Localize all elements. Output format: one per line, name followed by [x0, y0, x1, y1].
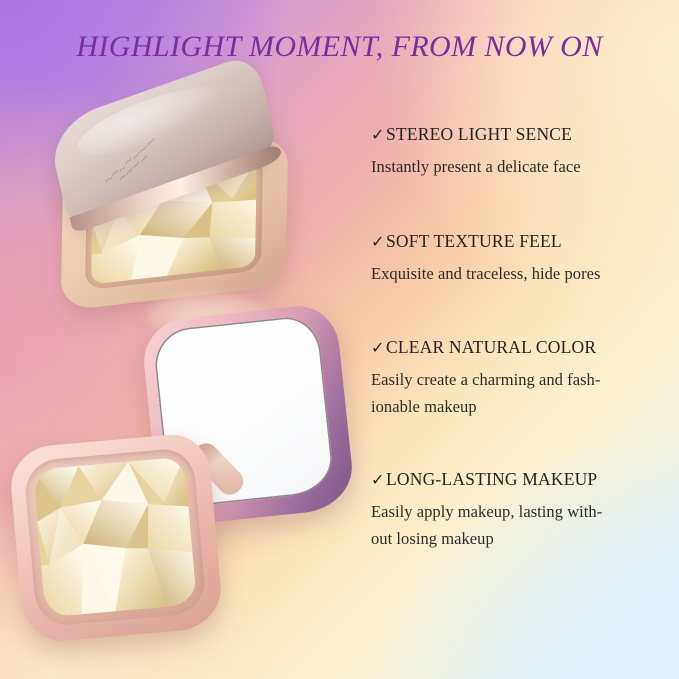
feature-item: ✓ SOFT TEXTURE FEEL Exquisite and tracel…: [371, 231, 671, 288]
feature-heading: ✓ SOFT TEXTURE FEEL: [371, 231, 671, 252]
feature-description: Easily apply makeup, lasting with- out l…: [371, 499, 671, 552]
feature-description: Instantly present a delicate face: [371, 154, 671, 181]
feature-description-line: Easily apply makeup, lasting with-: [371, 499, 671, 526]
feature-description-line: ionable makeup: [371, 394, 671, 421]
feature-heading: ✓ LONG-LASTING MAKEUP: [371, 469, 671, 490]
feature-heading-text: CLEAR NATURAL COLOR: [386, 337, 596, 358]
check-icon: ✓: [371, 341, 386, 357]
feature-heading-text: SOFT TEXTURE FEEL: [386, 231, 562, 252]
feature-description-line: Easily create a charming and fash-: [371, 367, 671, 394]
feature-spacer: [371, 207, 671, 231]
feature-heading-text: STEREO LIGHT SENCE: [386, 124, 572, 145]
feature-spacer: [371, 313, 671, 337]
feature-item: ✓ STEREO LIGHT SENCE Instantly present a…: [371, 124, 671, 181]
feature-heading-text: LONG-LASTING MAKEUP: [386, 469, 597, 490]
feature-description: Exquisite and traceless, hide pores: [371, 261, 671, 288]
check-icon: ✓: [371, 473, 386, 489]
feature-heading: ✓ STEREO LIGHT SENCE: [371, 124, 671, 145]
feature-description-line: Instantly present a delicate face: [371, 154, 671, 181]
check-icon: ✓: [371, 128, 386, 144]
feature-description-line: Exquisite and traceless, hide pores: [371, 261, 671, 288]
page-title: HIGHLIGHT MOMENT, FROM NOW ON: [0, 30, 679, 64]
feature-heading: ✓ CLEAR NATURAL COLOR: [371, 337, 671, 358]
feature-item: ✓ LONG-LASTING MAKEUP Easily apply makeu…: [371, 469, 671, 552]
feature-description-line: out losing makeup: [371, 526, 671, 553]
feature-spacer: [371, 447, 671, 469]
feature-description: Easily create a charming and fash- ionab…: [371, 367, 671, 420]
feature-list: ✓ STEREO LIGHT SENCE Instantly present a…: [371, 124, 671, 552]
check-icon: ✓: [371, 235, 386, 251]
feature-item: ✓ CLEAR NATURAL COLOR Easily create a ch…: [371, 337, 671, 420]
product-feature-graphic: HIGHLIGHT MOMENT, FROM NOW ON: [0, 0, 679, 679]
